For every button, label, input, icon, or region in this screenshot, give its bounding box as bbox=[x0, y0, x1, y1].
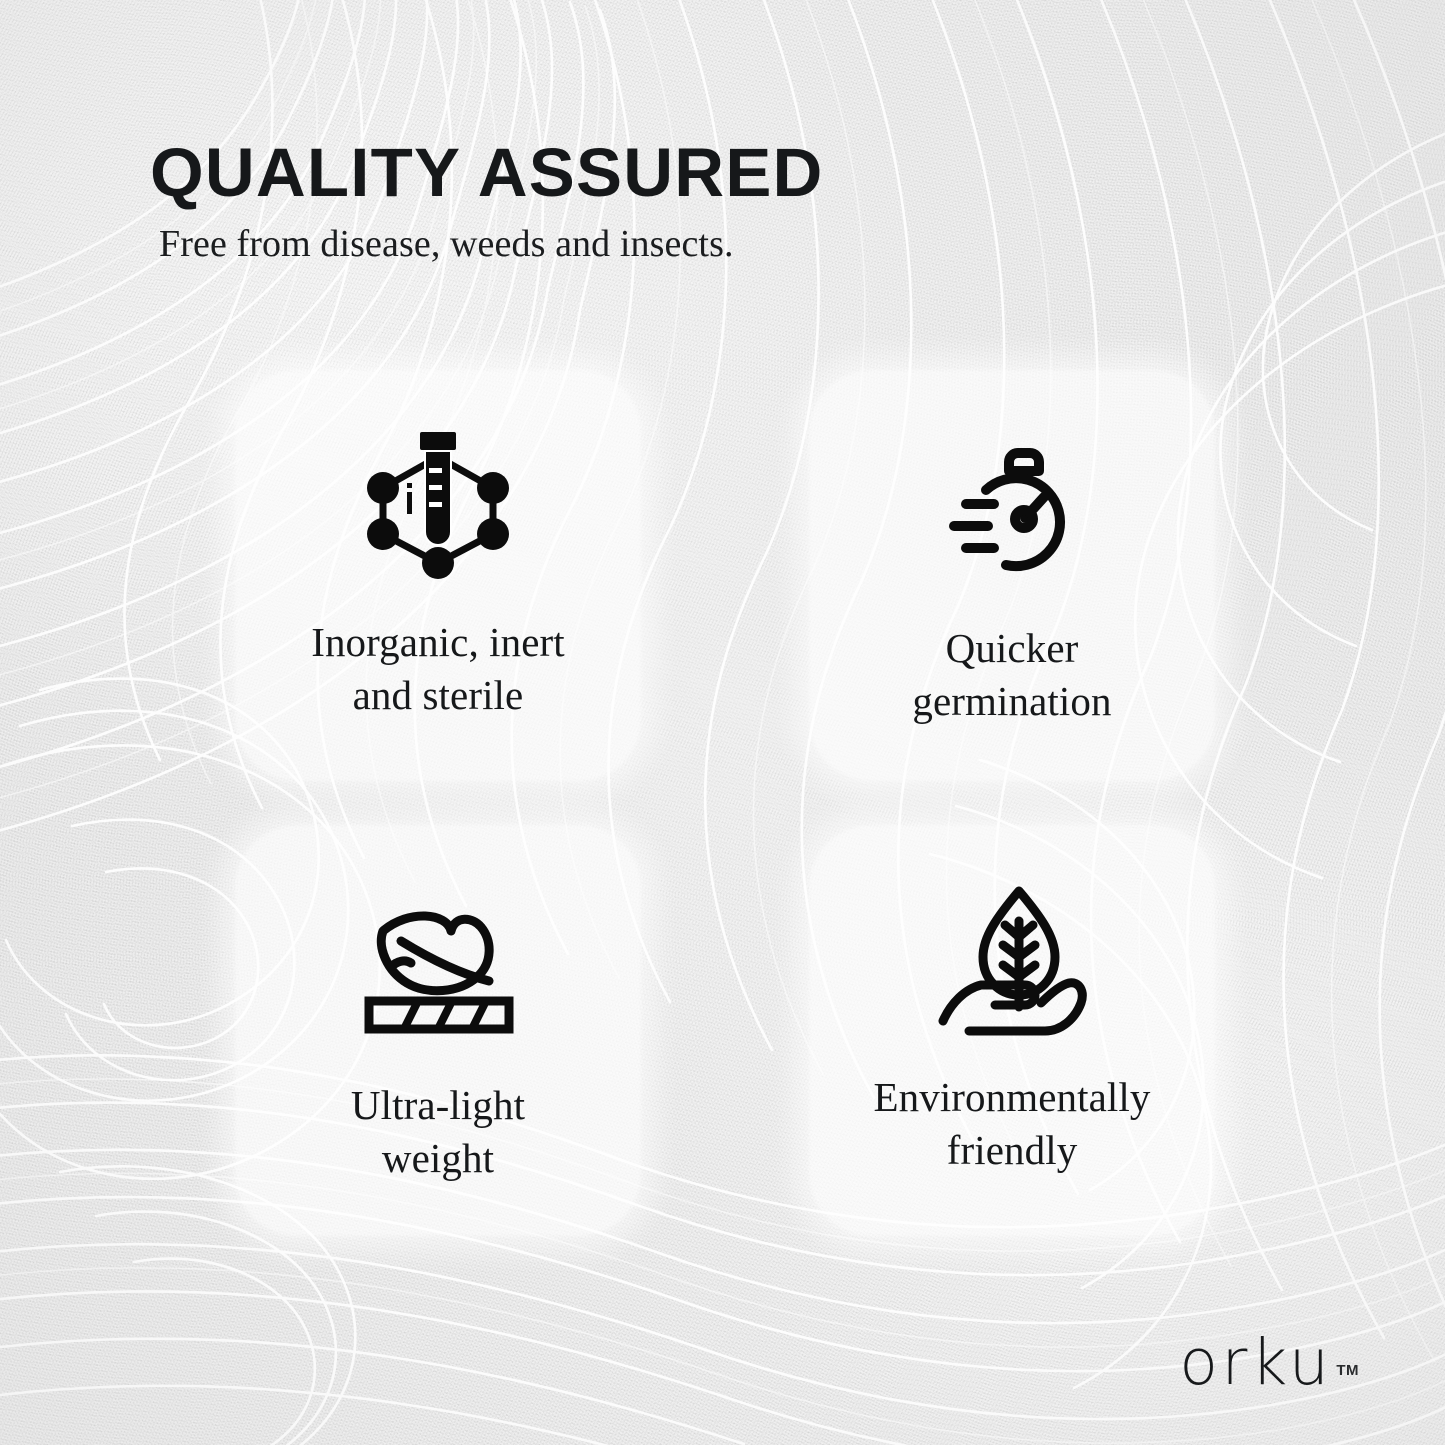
feather-on-scale-icon bbox=[361, 883, 516, 1055]
stopwatch-speed-icon bbox=[936, 426, 1088, 598]
feature-card-label: Inorganic, inert and sterile bbox=[311, 616, 565, 723]
page-title: QUALITY ASSURED bbox=[150, 138, 1300, 207]
feature-grid: Inorganic, inert and sterile bbox=[235, 370, 1215, 1236]
feature-card-ultra-light-weight: Ultra-light weight bbox=[235, 825, 641, 1236]
feature-card-label: Quicker germination bbox=[912, 622, 1111, 729]
feature-card-quicker-germination: Quicker germination bbox=[809, 370, 1215, 781]
feature-card-environmentally-friendly: Environmentally friendly bbox=[809, 825, 1215, 1236]
trademark-symbol: TM bbox=[1336, 1362, 1359, 1379]
header-block: QUALITY ASSURED Free from disease, weeds… bbox=[150, 138, 1300, 266]
page-subtitle: Free from disease, weeds and insects. bbox=[159, 224, 1300, 266]
poster-canvas: QUALITY ASSURED Free from disease, weeds… bbox=[0, 0, 1445, 1445]
feature-card-label: Environmentally friendly bbox=[873, 1071, 1150, 1178]
molecule-test-tube-icon bbox=[363, 420, 513, 592]
feature-card-label: Ultra-light weight bbox=[351, 1079, 525, 1186]
leaf-in-hand-icon bbox=[933, 875, 1091, 1047]
feature-card-inorganic: Inorganic, inert and sterile bbox=[235, 370, 641, 781]
brand-logo: orku TM bbox=[1179, 1336, 1359, 1390]
brand-name: orku bbox=[1179, 1336, 1332, 1390]
